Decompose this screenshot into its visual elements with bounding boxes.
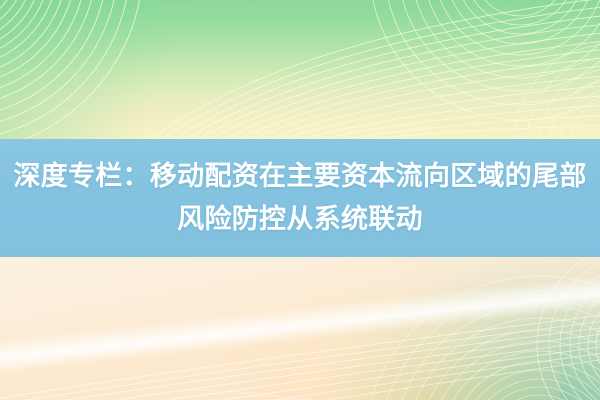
blue-title-band: 深度专栏：移动配资在主要资本流向区域的尾部风险防控从系统联动 [0, 139, 600, 257]
page-title: 深度专栏：移动配资在主要资本流向区域的尾部风险防控从系统联动 [8, 155, 592, 241]
top-right-edge-arc-group [514, 44, 600, 139]
top-right-fan-group [370, 0, 600, 120]
top-left-green-tint [0, 0, 260, 139]
top-gradient-band [0, 0, 600, 139]
bottom-gradient-band [0, 257, 600, 400]
title-container: 深度专栏：移动配资在主要资本流向区域的尾部风险防控从系统联动 [0, 139, 600, 257]
article-cover-banner: 深度专栏：移动配资在主要资本流向区域的尾部风险防控从系统联动 [0, 0, 600, 400]
